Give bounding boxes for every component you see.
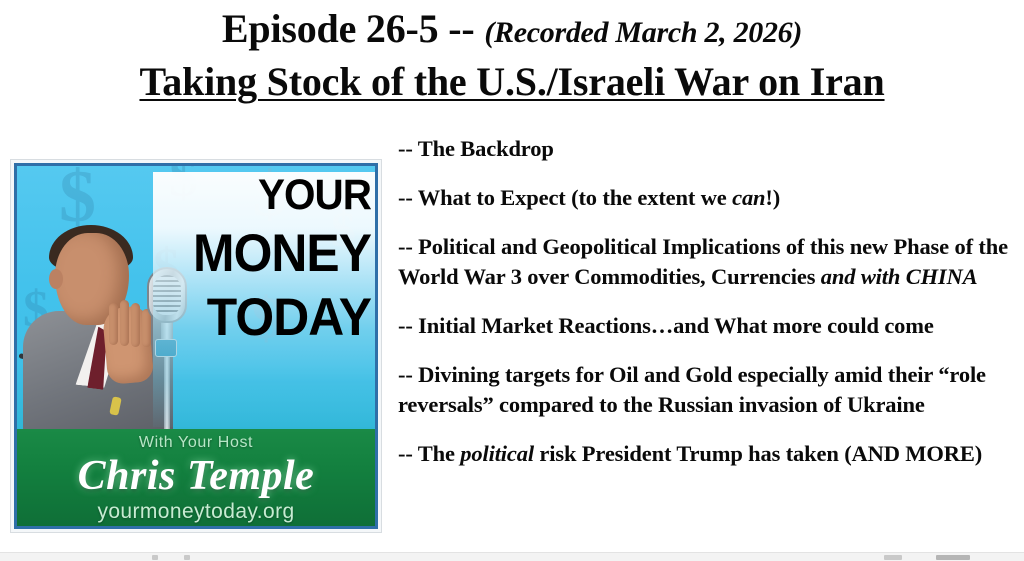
- wordmark-line-your: YOUR: [34, 174, 371, 216]
- cover-photo-area: $ $ $ $ $ $ $: [17, 166, 375, 429]
- host-name: Chris Temple: [17, 453, 375, 499]
- bullet-emphasis: and with CHINA: [821, 264, 978, 289]
- bullet-text: !): [765, 185, 780, 210]
- bullet-political-risk-trump: -- The political risk President Trump ha…: [398, 439, 1016, 469]
- bullet-political-geopolitical-implications: -- Political and Geopolitical Implicatio…: [398, 232, 1016, 292]
- bullet-text: -- Initial Market Reactions…and What mor…: [398, 313, 934, 338]
- slide-body: $ $ $ $ $ $ $: [0, 128, 1024, 561]
- bullet-emphasis: political: [460, 441, 534, 466]
- recorded-date-note: (Recorded March 2, 2026): [484, 16, 802, 49]
- website-url: yourmoneytoday.org: [17, 500, 375, 524]
- bullet-what-to-expect: -- What to Expect (to the extent we can!…: [398, 183, 1016, 213]
- bullet-text: -- What to Expect (to the extent we: [398, 185, 732, 210]
- chrome-control-partial[interactable]: [936, 555, 970, 560]
- bullet-text: -- Divining targets for Oil and Gold esp…: [398, 362, 986, 417]
- bottom-chrome-strip: [0, 552, 1024, 561]
- wordmark-line-today: TODAY: [34, 292, 371, 344]
- with-your-host-label: With Your Host: [17, 434, 375, 452]
- page-title: Episode 26-5 -- (Recorded March 2, 2026): [0, 4, 1024, 58]
- chrome-control-partial[interactable]: [884, 555, 902, 560]
- episode-label: Episode 26-5 --: [222, 6, 475, 51]
- chrome-control-partial[interactable]: [184, 555, 190, 560]
- wordmark-line-money: MONEY: [34, 228, 371, 280]
- bullet-emphasis: can: [732, 185, 765, 210]
- bullet-text: risk President Trump has taken (AND MORE…: [534, 441, 982, 466]
- podcast-cover-art: $ $ $ $ $ $ $: [11, 160, 381, 532]
- bullet-text: -- The Backdrop: [398, 136, 554, 161]
- page-subtitle-text: Taking Stock of the U.S./Israeli War on …: [139, 59, 884, 104]
- page-subtitle: Taking Stock of the U.S./Israeli War on …: [0, 56, 1024, 108]
- show-wordmark: YOUR MONEY TODAY: [17, 174, 371, 344]
- bullet-backdrop: -- The Backdrop: [398, 134, 1016, 164]
- cover-card: $ $ $ $ $ $ $: [14, 163, 378, 529]
- host-banner: With Your Host Chris Temple yourmoneytod…: [17, 429, 375, 526]
- bullet-initial-market-reactions: -- Initial Market Reactions…and What mor…: [398, 311, 1016, 341]
- agenda-bullet-list: -- The Backdrop-- What to Expect (to the…: [398, 134, 1016, 469]
- slide-header: Episode 26-5 -- (Recorded March 2, 2026)…: [0, 0, 1024, 108]
- bullet-text: -- The: [398, 441, 460, 466]
- chrome-control-partial[interactable]: [152, 555, 158, 560]
- bullet-divining-targets-oil-gold: -- Divining targets for Oil and Gold esp…: [398, 360, 1016, 420]
